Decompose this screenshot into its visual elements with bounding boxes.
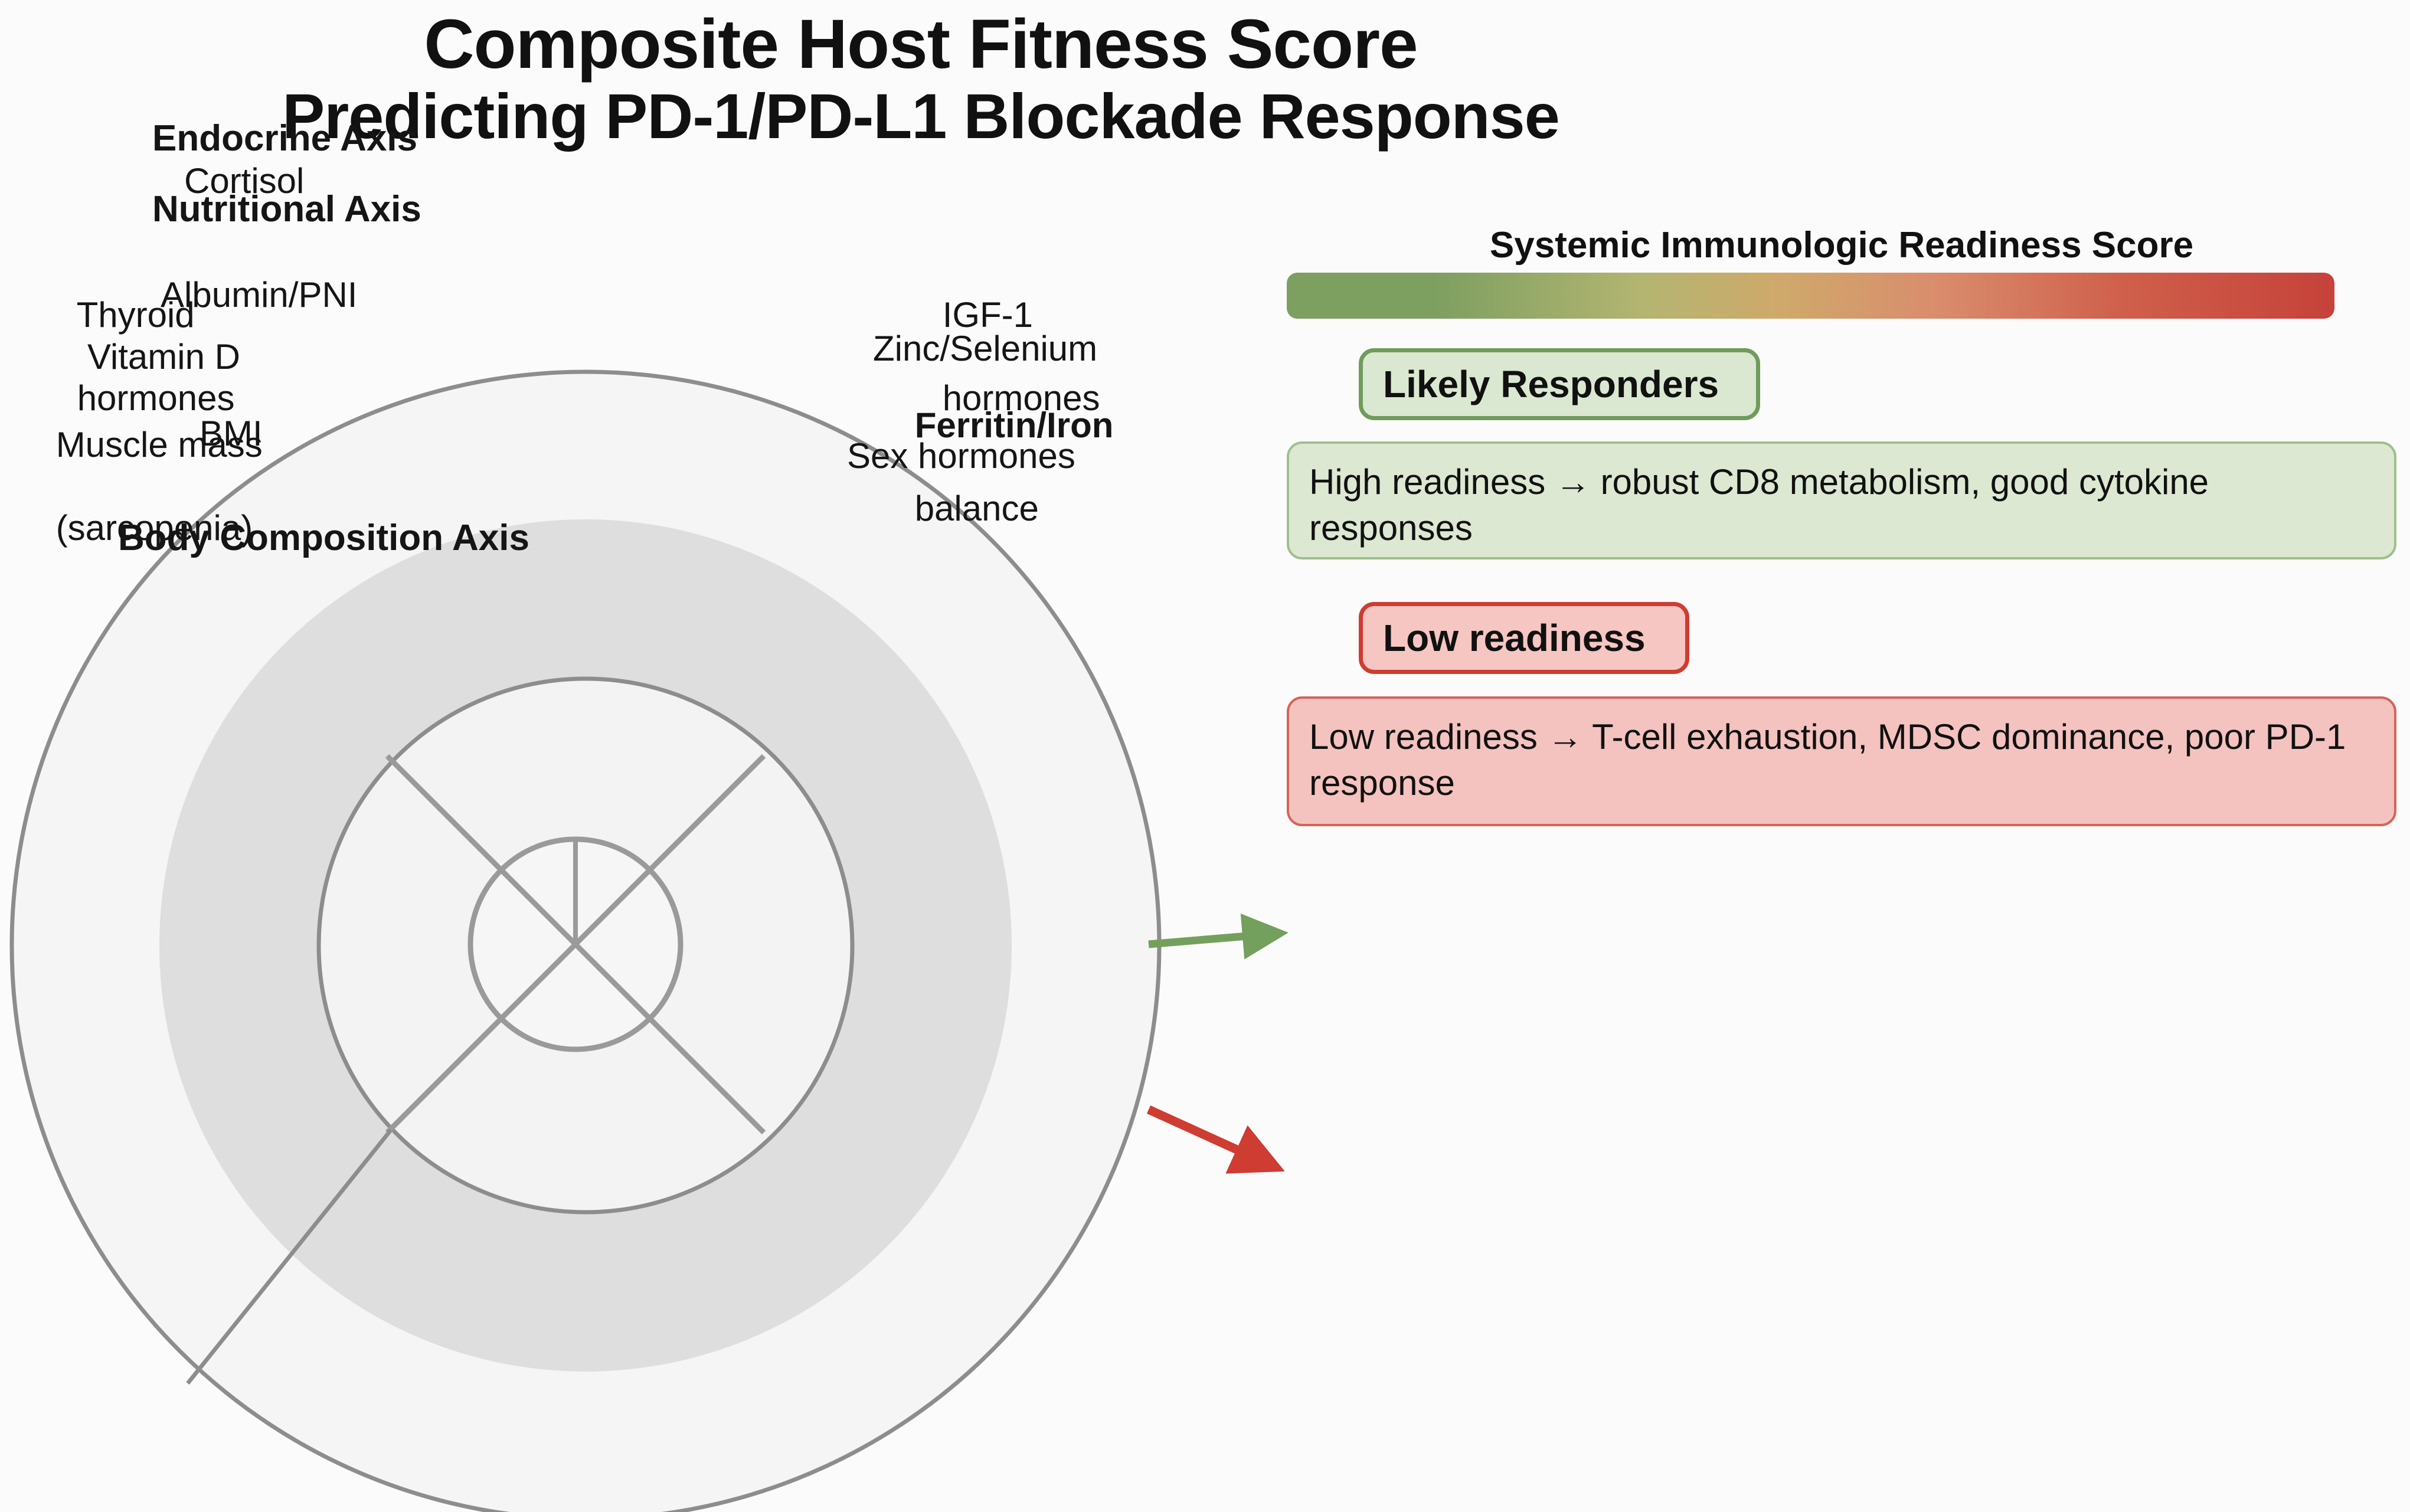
label-vitamin-d: Vitamin D xyxy=(87,336,240,378)
label-body-composition-axis: Body Composition Axis xyxy=(118,516,529,559)
chip-low-readiness[interactable]: Low readiness xyxy=(1359,602,1689,674)
description-low-readiness: Low readiness → T-cell exhaustion, MDSC … xyxy=(1287,696,2396,826)
score-heading: Systemic Immunologic Readiness Score xyxy=(1287,224,2396,266)
chip-low-readiness-label: Low readiness xyxy=(1383,616,1646,660)
title-line-1: Composite Host Fitness Score xyxy=(0,8,1842,81)
label-endocrine-axis: Endocrine Axis xyxy=(152,117,417,160)
label-bmi: BMI xyxy=(200,413,263,455)
description-likely-responders: High readiness → robust CD8 metabolism, … xyxy=(1287,441,2396,559)
label-ferritin-rest: balance xyxy=(915,489,1039,528)
label-sex-hormones: Sex hormones xyxy=(847,436,1075,477)
arrow-to-low-readiness xyxy=(1149,1110,1272,1166)
arrow-to-likely-responders xyxy=(1149,934,1276,944)
chip-likely-responders-label: Likely Responders xyxy=(1383,362,1719,406)
diagram-canvas: Composite Host Fitness Score Predicting … xyxy=(0,0,2410,1512)
chip-likely-responders[interactable]: Likely Responders xyxy=(1359,348,1760,420)
readiness-gradient-bar[interactable] xyxy=(1287,273,2334,319)
label-nutritional-axis: Nutritional Axis xyxy=(152,188,421,231)
readiness-panel: Systemic Immunologic Readiness Score Lik… xyxy=(1287,224,2396,1452)
label-albumin-pni: Albumin/PNI xyxy=(161,274,357,316)
